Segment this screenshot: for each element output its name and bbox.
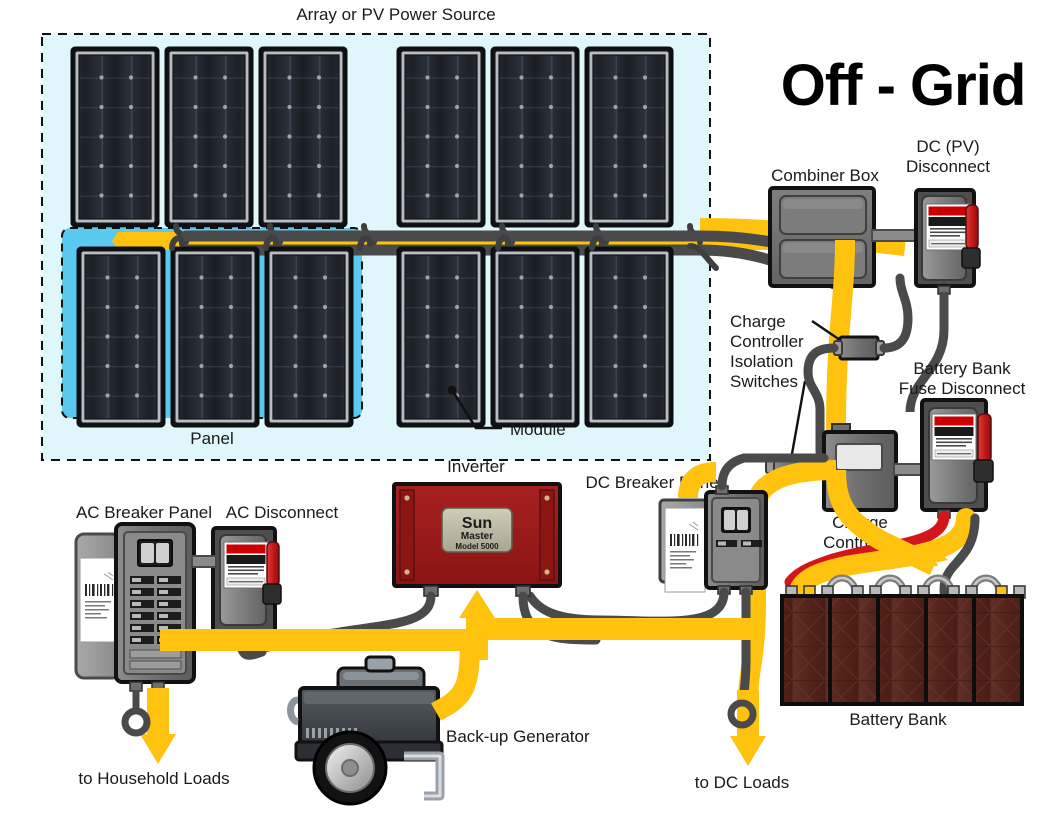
array-label: Array or PV Power Source (296, 5, 495, 24)
ac-breaker-panel[interactable] (76, 524, 194, 691)
ac-panel-main-breaker[interactable] (138, 540, 172, 566)
battery-cell (782, 596, 1022, 704)
combiner-box[interactable] (770, 188, 874, 286)
backup-generator-label: Back-up Generator (446, 727, 590, 746)
module-top-right-2 (492, 48, 578, 226)
to-household-loads-label: to Household Loads (78, 769, 229, 788)
battery-bank-label: Battery Bank (849, 710, 947, 729)
battery-fuse-label-line1: Battery Bank (913, 359, 1011, 378)
ac-power-bus (160, 629, 756, 640)
module-bottom-right-1 (398, 248, 484, 426)
battery-fuse-safety-label (932, 414, 976, 460)
dc-pv-disconnect-label-line1: DC (PV) (916, 137, 979, 156)
inverter-label: Inverter (447, 457, 505, 476)
isolation-switch-upper[interactable] (834, 337, 884, 359)
dc-panel-label-sheet (665, 508, 705, 592)
dc-pv-disconnect-safety-label (926, 204, 970, 250)
charge-controller-display (836, 444, 882, 470)
module-bottom-right-2 (492, 248, 578, 426)
combiner-box-label: Combiner Box (771, 166, 879, 185)
module-label: Module (510, 420, 566, 439)
ac-disconnect-label: AC Disconnect (226, 503, 339, 522)
to-household-loads-arrow (125, 688, 176, 764)
to-dc-loads-arrow (730, 690, 766, 766)
inverter[interactable]: Sun Master Model 5000 (394, 484, 560, 596)
cc-isolation-label-line2: Controller (730, 332, 804, 351)
inverter-brand-line2: Master (461, 531, 493, 542)
module-bottom-left-3 (266, 248, 352, 426)
to-dc-loads-label: to DC Loads (695, 773, 790, 792)
panel-label: Panel (190, 429, 233, 448)
dc-pv-disconnect[interactable] (916, 190, 980, 294)
module-top-right-3 (586, 48, 672, 226)
backup-generator[interactable] (291, 657, 443, 804)
ac-panel-to-disconnect-conduit (192, 556, 216, 567)
module-top-right-1 (398, 48, 484, 226)
module-top-left-3 (260, 48, 346, 226)
diagram-title: Off - Grid (781, 53, 1026, 118)
dc-pv-disconnect-label-line2: Disconnect (906, 157, 990, 176)
cc-isolation-label-line1: Charge (730, 312, 786, 331)
battery-bank (782, 578, 1025, 704)
dc-breaker-panel[interactable] (660, 486, 766, 594)
module-top-left-1 (72, 48, 158, 226)
ac-breaker-panel-label: AC Breaker Panel (76, 503, 212, 522)
module-bottom-right-3 (586, 248, 672, 426)
module-top-left-2 (166, 48, 252, 226)
battery-fuse-label-line2: Fuse Disconnect (899, 379, 1026, 398)
battery-bank-fuse-disconnect[interactable] (922, 400, 993, 518)
off-grid-solar-diagram: Array or PV Power Source Panel Module Of… (0, 0, 1056, 816)
inverter-nameplate: Sun Master Model 5000 (442, 508, 512, 552)
inverter-brand-line1: Sun (462, 515, 492, 532)
module-bottom-left-2 (172, 248, 258, 426)
module-bottom-left-1 (78, 248, 164, 426)
inverter-model: Model 5000 (455, 542, 499, 551)
ac-disconnect[interactable] (213, 528, 281, 640)
dc-panel-main-breaker[interactable] (722, 508, 750, 532)
ac-disconnect-safety-label (224, 542, 268, 588)
cc-isolation-label-line3: Isolation (730, 352, 793, 371)
cc-isolation-label-line4: Switches (730, 372, 798, 391)
